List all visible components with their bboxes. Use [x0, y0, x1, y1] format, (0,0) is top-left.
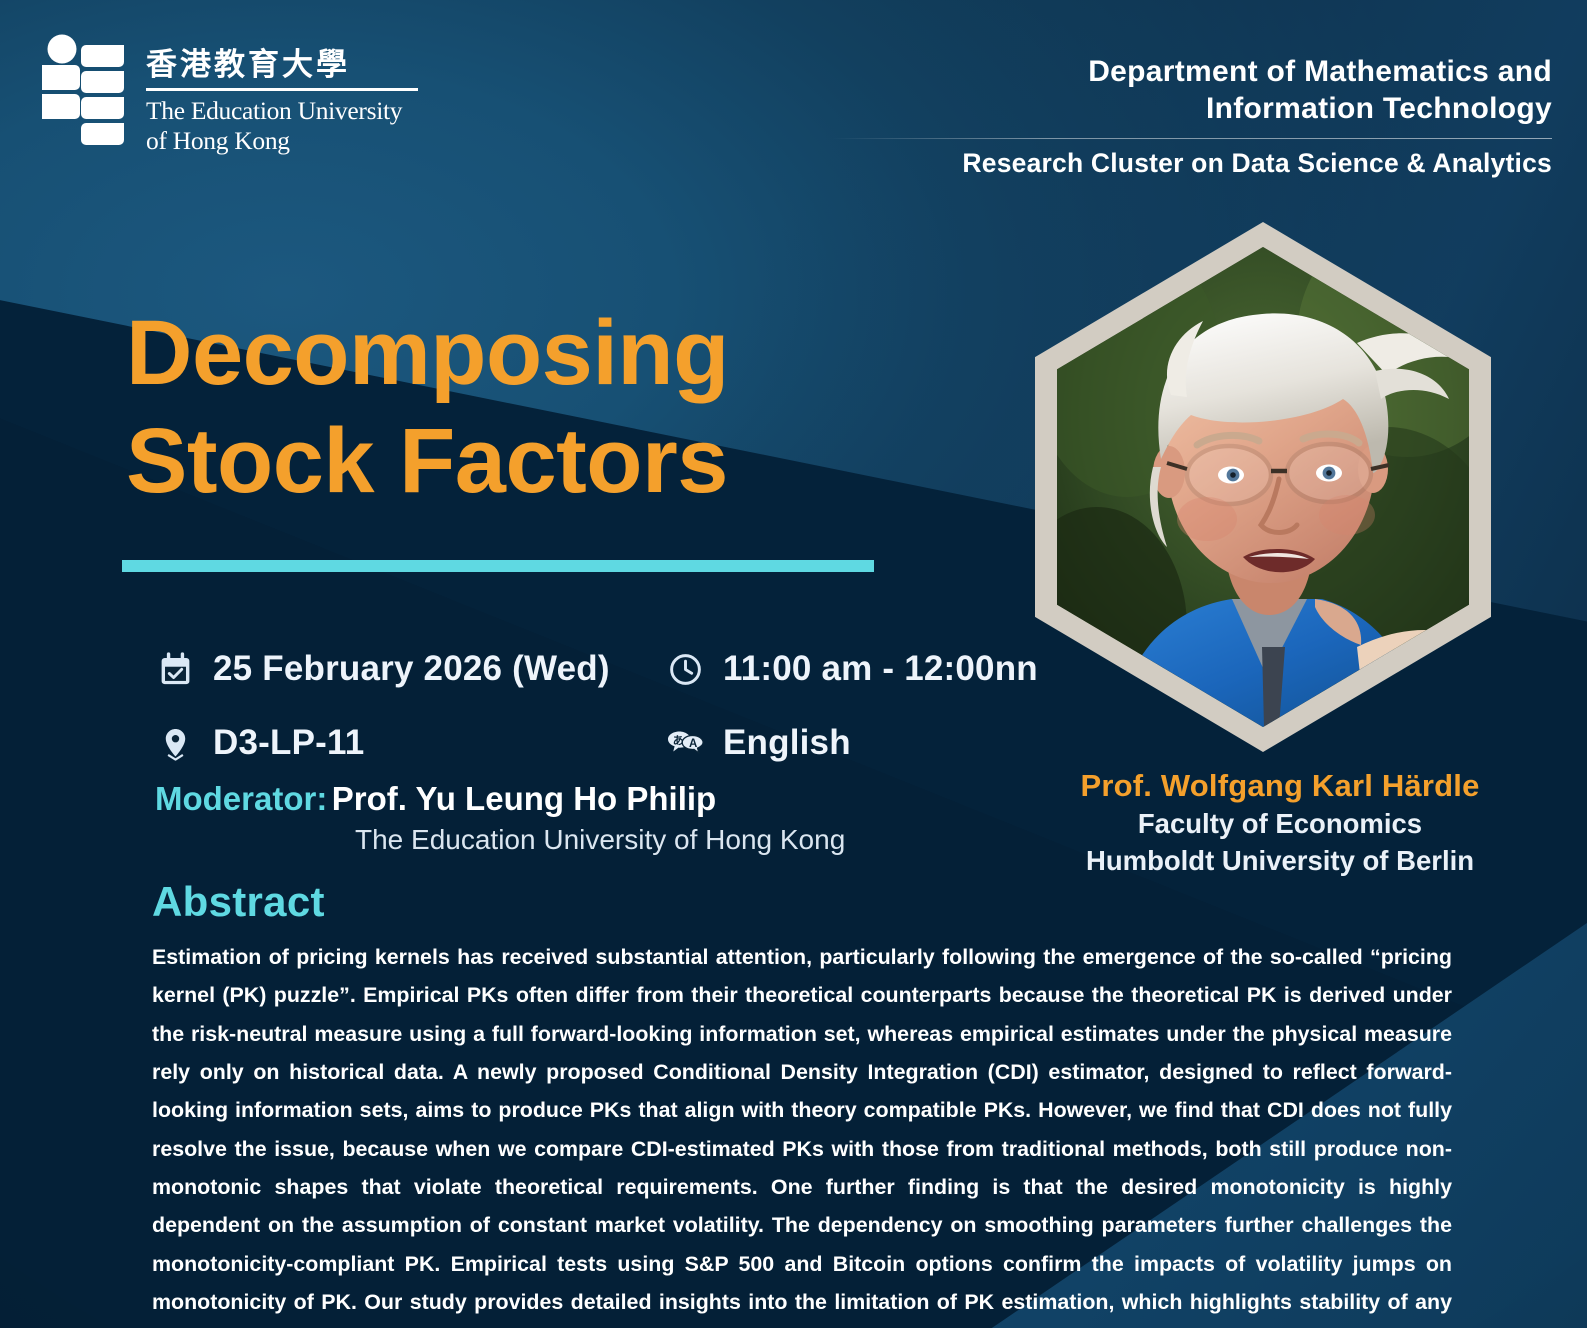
- header-divider: [832, 138, 1552, 139]
- speaker-photo-frame: [1035, 222, 1491, 752]
- logo-divider: [146, 88, 418, 91]
- event-time-text: 11:00 am - 12:00nn: [723, 649, 1038, 689]
- seminar-poster: 香港教育大學 The Education University of Hong …: [0, 0, 1587, 1328]
- abstract-text: Estimation of pricing kernels has receiv…: [152, 938, 1452, 1328]
- logo-wordmark: 香港教育大學 The Education University of Hong …: [146, 33, 418, 155]
- moderator-name: Prof. Yu Leung Ho Philip: [332, 780, 716, 817]
- event-details-row-2: D3-LP-11 あ A English: [155, 706, 1075, 780]
- event-venue: D3-LP-11: [155, 723, 665, 763]
- moderator-affiliation: The Education University of Hong Kong: [155, 824, 1055, 856]
- university-logo: 香港教育大學 The Education University of Hong …: [36, 33, 418, 155]
- talk-title-line1: Decomposing: [126, 300, 729, 408]
- title-underline-bar: [122, 560, 874, 572]
- event-language-text: English: [723, 723, 851, 763]
- event-date-text: 25 February 2026 (Wed): [213, 649, 610, 689]
- speaker-name: Prof. Wolfgang Karl Härdle: [1000, 768, 1560, 804]
- event-venue-text: D3-LP-11: [213, 723, 364, 763]
- department-title-line1: Department of Mathematics and: [832, 54, 1552, 91]
- moderator-line: Moderator: Prof. Yu Leung Ho Philip: [155, 780, 1055, 818]
- event-date: 25 February 2026 (Wed): [155, 649, 665, 689]
- euhk-logo-icon: [36, 33, 130, 151]
- logo-name-english-line1: The Education University: [146, 96, 418, 126]
- event-details: 25 February 2026 (Wed) 11:00 am - 12:00n…: [155, 632, 1075, 780]
- translate-icon: あ A: [665, 723, 705, 763]
- logo-name-english-line2: of Hong Kong: [146, 126, 418, 156]
- speaker-affiliation-line1: Faculty of Economics: [1000, 807, 1560, 841]
- calendar-check-icon: [155, 649, 195, 689]
- research-cluster-label: Research Cluster on Data Science & Analy…: [832, 148, 1552, 179]
- talk-title-line2: Stock Factors: [126, 408, 729, 516]
- svg-text:あ: あ: [673, 734, 684, 747]
- svg-text:A: A: [689, 738, 697, 750]
- logo-name-chinese: 香港教育大學: [146, 50, 418, 81]
- event-language: あ A English: [665, 723, 851, 763]
- moderator-label: Moderator:: [155, 780, 327, 817]
- speaker-affiliation-line2: Humboldt University of Berlin: [1000, 844, 1560, 878]
- department-title-line2: Information Technology: [832, 91, 1552, 128]
- moderator-block: Moderator: Prof. Yu Leung Ho Philip The …: [155, 780, 1055, 856]
- location-pin-icon: [155, 723, 195, 763]
- abstract-heading: Abstract: [152, 878, 325, 926]
- speaker-block: Prof. Wolfgang Karl Härdle Faculty of Ec…: [1000, 768, 1560, 877]
- event-details-row-1: 25 February 2026 (Wed) 11:00 am - 12:00n…: [155, 632, 1075, 706]
- clock-icon: [665, 649, 705, 689]
- page-title: Decomposing Stock Factors: [126, 300, 729, 515]
- department-header: Department of Mathematics and Informatio…: [832, 54, 1552, 179]
- event-time: 11:00 am - 12:00nn: [665, 649, 1038, 689]
